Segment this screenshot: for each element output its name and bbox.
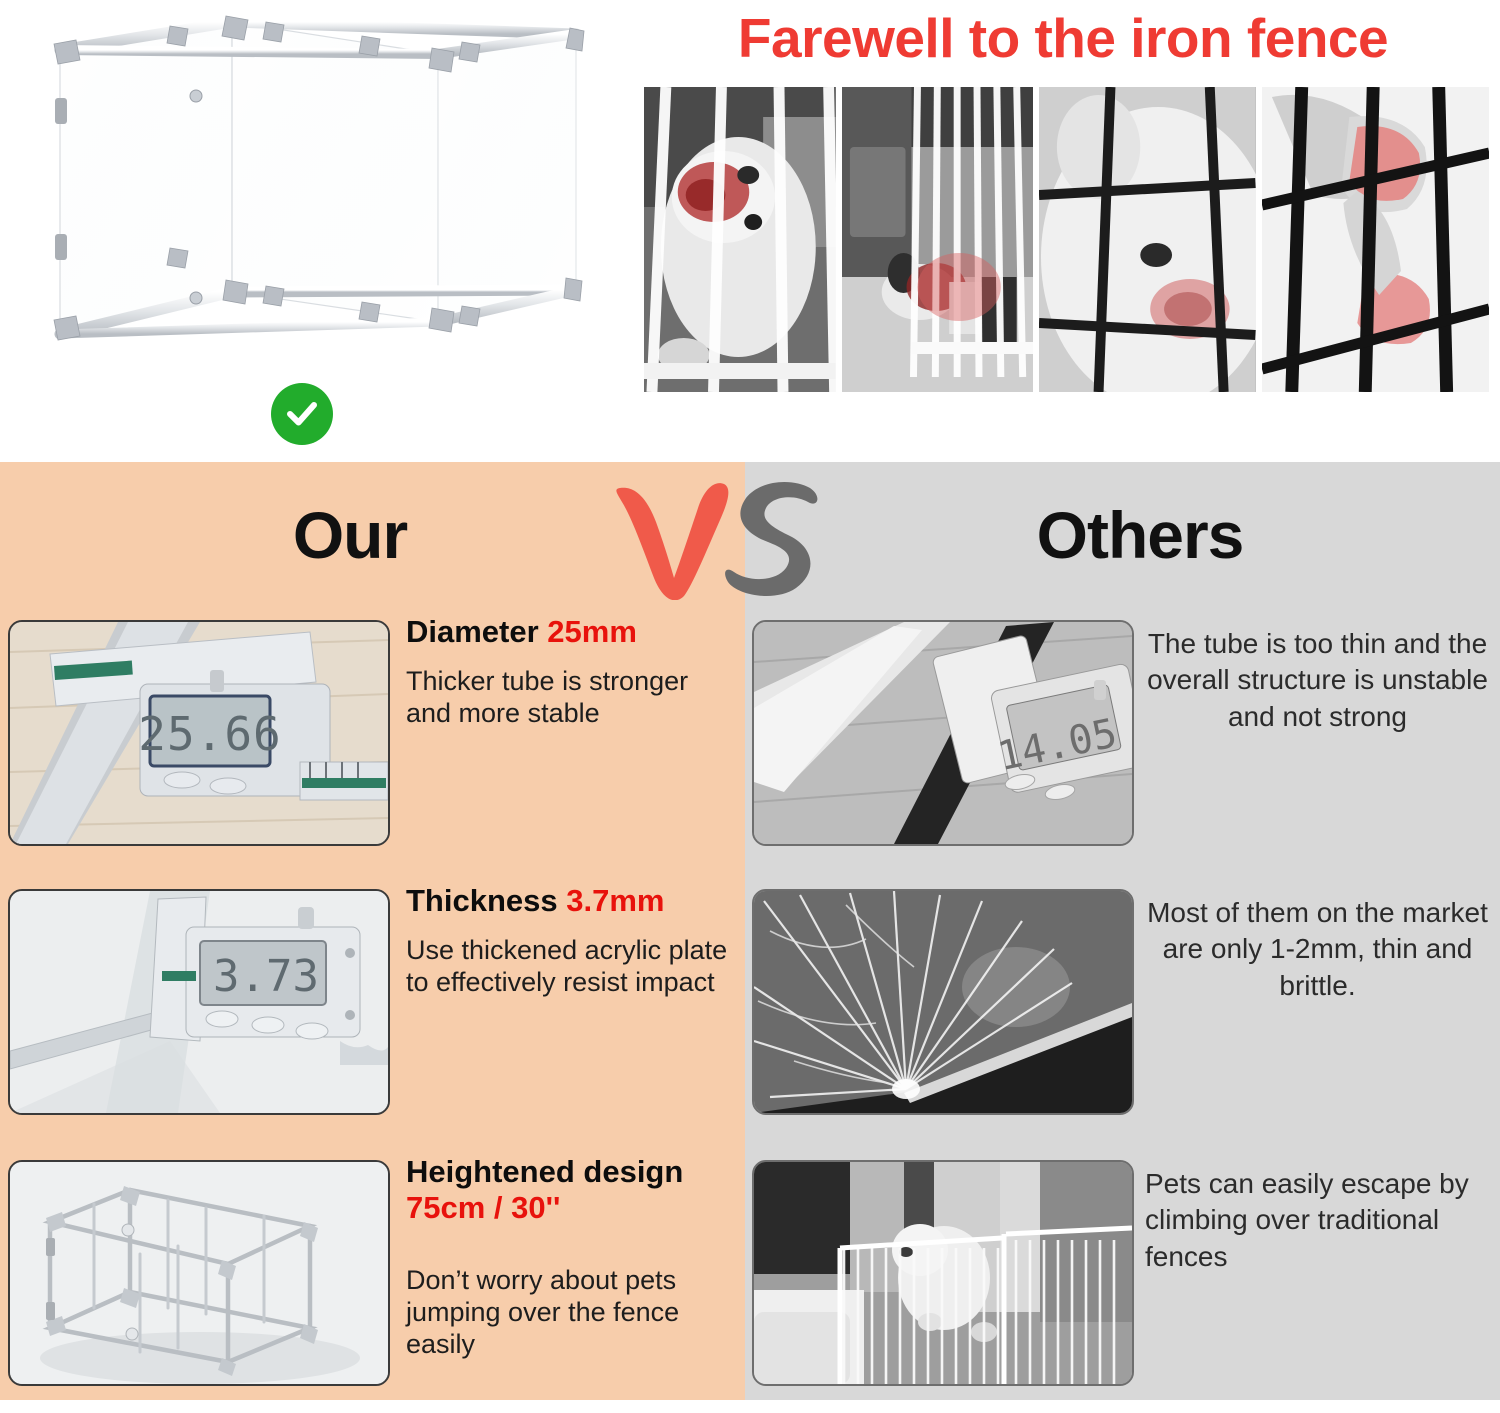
compare-row-thickness: 3.73 Thickness 3.7mm Use thickened acr — [0, 877, 1500, 1142]
acrylic-playpen-illustration — [18, 2, 602, 392]
other-text-thickness: Most of them on the market are only 1-2m… — [1145, 895, 1490, 1004]
our-image-caliper-thick-tube: 25.66 — [8, 620, 390, 846]
injury-photo-strip — [644, 87, 1489, 392]
our-image-playpen-frame-render — [8, 1160, 390, 1386]
our-title-value-line2: 75cm / 30'' — [406, 1190, 738, 1226]
photo-dog-paws-gripping-black-cage-bars — [1262, 87, 1489, 392]
our-title-diameter: Diameter 25mm — [406, 614, 738, 650]
other-image-puppy-climbing-fence — [752, 1160, 1134, 1386]
others-heading: Others — [790, 490, 1490, 580]
photo-dog-face-pressed-against-wire-mesh — [1039, 87, 1255, 392]
infographic-page: Farewell to the iron fence — [0, 0, 1500, 1400]
photo-dog-snout-caught-in-gate-bars — [644, 87, 836, 392]
check-icon — [282, 394, 322, 434]
top-section: Farewell to the iron fence — [0, 0, 1500, 462]
our-desc-thickness: Use thickened acrylic plate to effective… — [406, 935, 738, 999]
our-text-thickness: Thickness 3.7mm Use thickened acrylic pl… — [406, 883, 738, 998]
our-desc-diameter: Thicker tube is stronger and more stable — [406, 666, 738, 730]
comparison-section: Our Others — [0, 462, 1500, 1400]
our-title-thickness: Thickness 3.7mm — [406, 883, 738, 919]
other-image-caliper-thin-tube: 14.05 — [752, 620, 1134, 846]
compare-row-height: Heightened design75cm / 30'' Don’t worry… — [0, 1148, 1500, 1413]
our-title-main: Diameter — [406, 614, 547, 649]
our-title-value: 3.7mm — [566, 883, 664, 918]
other-text-diameter: The tube is too thin and the overall str… — [1145, 626, 1490, 735]
photo-dog-head-stuck-between-fence-bars — [842, 87, 1034, 392]
our-title-main: Thickness — [406, 883, 566, 918]
other-image-shattered-glass — [752, 889, 1134, 1115]
hero-product-image — [0, 0, 620, 462]
our-title-value: 25mm — [547, 614, 637, 649]
page-title: Farewell to the iron fence — [630, 2, 1496, 74]
our-text-height: Heightened design75cm / 30'' Don’t worry… — [406, 1154, 738, 1361]
other-desc-diameter: The tube is too thin and the overall str… — [1145, 626, 1490, 735]
compare-row-diameter: 25.66 Diameter 25mm Thick — [0, 608, 1500, 873]
other-desc-height: Pets can easily escape by climbing over … — [1145, 1166, 1490, 1275]
our-title-main: Heightened design — [406, 1154, 683, 1189]
our-desc-height: Don’t worry about pets jumping over the … — [406, 1265, 738, 1361]
our-text-diameter: Diameter 25mm Thicker tube is stronger a… — [406, 614, 738, 729]
our-image-caliper-acrylic-plate: 3.73 — [8, 889, 390, 1115]
vs-badge-icon — [594, 472, 864, 600]
other-desc-thickness: Most of them on the market are only 1-2m… — [1145, 895, 1490, 1004]
green-check-badge — [271, 383, 333, 445]
svg-text:25.66: 25.66 — [138, 707, 281, 761]
svg-text:3.73: 3.73 — [213, 951, 319, 1002]
our-title-height: Heightened design75cm / 30'' — [406, 1154, 738, 1225]
other-text-height: Pets can easily escape by climbing over … — [1145, 1166, 1490, 1275]
